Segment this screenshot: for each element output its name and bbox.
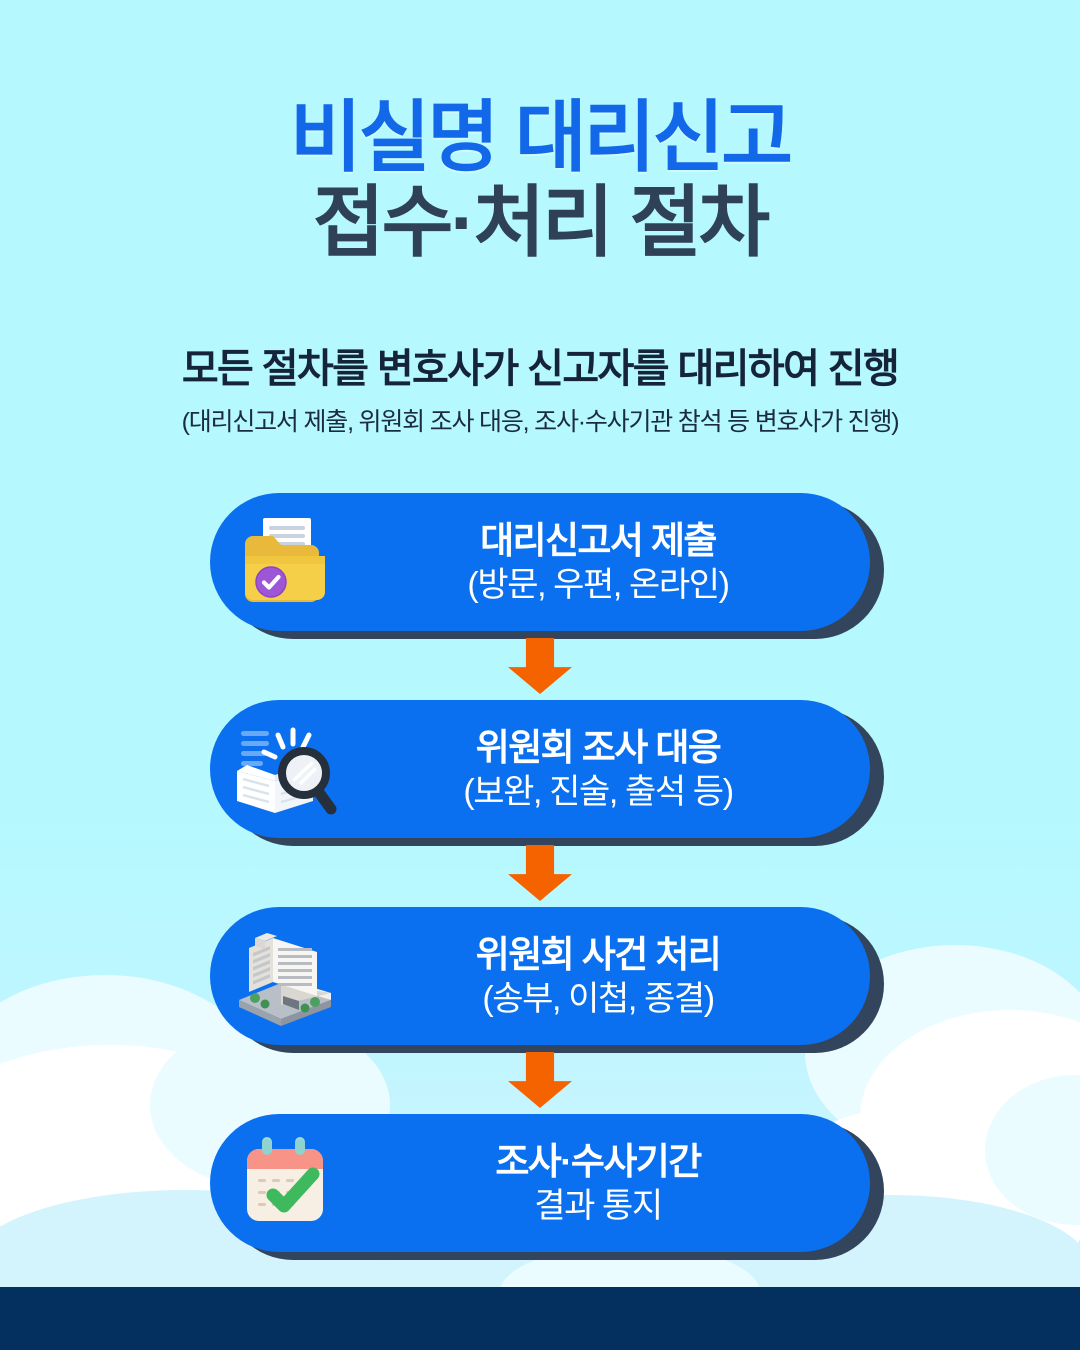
flow-step-text: 대리신고서 제출 (방문, 우편, 온라인) xyxy=(360,520,870,604)
subtitle-main: 모든 절차를 변호사가 신고자를 대리하여 진행 xyxy=(0,345,1080,393)
flow-step-subtitle: 결과 통지 xyxy=(360,1187,836,1225)
flow-step: 위원회 사건 처리 (송부, 이첩, 종결) xyxy=(210,907,870,1045)
poster-root: 비실명 대리신고 접수·처리 절차 모든 절차를 변호사가 신고자를 대리하여 … xyxy=(0,0,1080,1350)
flow-step-text: 위원회 조사 대응 (보완, 진술, 출석 등) xyxy=(360,727,870,811)
flow-step: 위원회 조사 대응 (보완, 진술, 출석 등) xyxy=(210,700,870,838)
flow-step-text: 위원회 사건 처리 (송부, 이첩, 종결) xyxy=(360,934,870,1018)
flow-step-pill-3[interactable]: 위원회 사건 처리 (송부, 이첩, 종결) xyxy=(210,907,870,1045)
down-arrow-icon xyxy=(508,638,572,694)
flow-step-pill-4[interactable]: 조사·수사기간 결과 통지 xyxy=(210,1114,870,1252)
flow-step: 대리신고서 제출 (방문, 우편, 온라인) xyxy=(210,493,870,631)
bottom-bar xyxy=(0,1287,1080,1350)
flow-step-pill-1[interactable]: 대리신고서 제출 (방문, 우편, 온라인) xyxy=(210,493,870,631)
down-arrow-icon xyxy=(508,1052,572,1108)
office-building-icon xyxy=(210,926,360,1026)
flow-step: 조사·수사기간 결과 통지 xyxy=(210,1114,870,1252)
page-title: 비실명 대리신고 접수·처리 절차 xyxy=(0,96,1080,263)
flow-step-subtitle: (보완, 진술, 출석 등) xyxy=(360,773,836,811)
flow-step-text: 조사·수사기간 결과 통지 xyxy=(360,1141,870,1225)
flow-step-title: 위원회 조사 대응 xyxy=(360,727,836,768)
subtitle-block: 모든 절차를 변호사가 신고자를 대리하여 진행 (대리신고서 제출, 위원회 … xyxy=(0,345,1080,437)
subtitle-note: (대리신고서 제출, 위원회 조사 대응, 조사·수사기관 참석 등 변호사가 … xyxy=(0,407,1080,437)
down-arrow-icon xyxy=(508,845,572,901)
flow-step-pill-2[interactable]: 위원회 조사 대응 (보완, 진술, 출석 등) xyxy=(210,700,870,838)
flow-step-subtitle: (송부, 이첩, 종결) xyxy=(360,980,836,1018)
title-line-2: 접수·처리 절차 xyxy=(0,181,1080,264)
book-magnifier-icon xyxy=(210,719,360,819)
flow-step-title: 위원회 사건 처리 xyxy=(360,934,836,975)
process-flow: 대리신고서 제출 (방문, 우편, 온라인) xyxy=(0,493,1080,1252)
title-line-1: 비실명 대리신고 xyxy=(0,96,1080,179)
flow-step-title: 조사·수사기간 xyxy=(360,1141,836,1182)
flow-step-title: 대리신고서 제출 xyxy=(360,520,836,561)
flow-step-subtitle: (방문, 우편, 온라인) xyxy=(360,566,836,604)
calendar-check-icon xyxy=(210,1133,360,1233)
folder-document-check-icon xyxy=(210,512,360,612)
